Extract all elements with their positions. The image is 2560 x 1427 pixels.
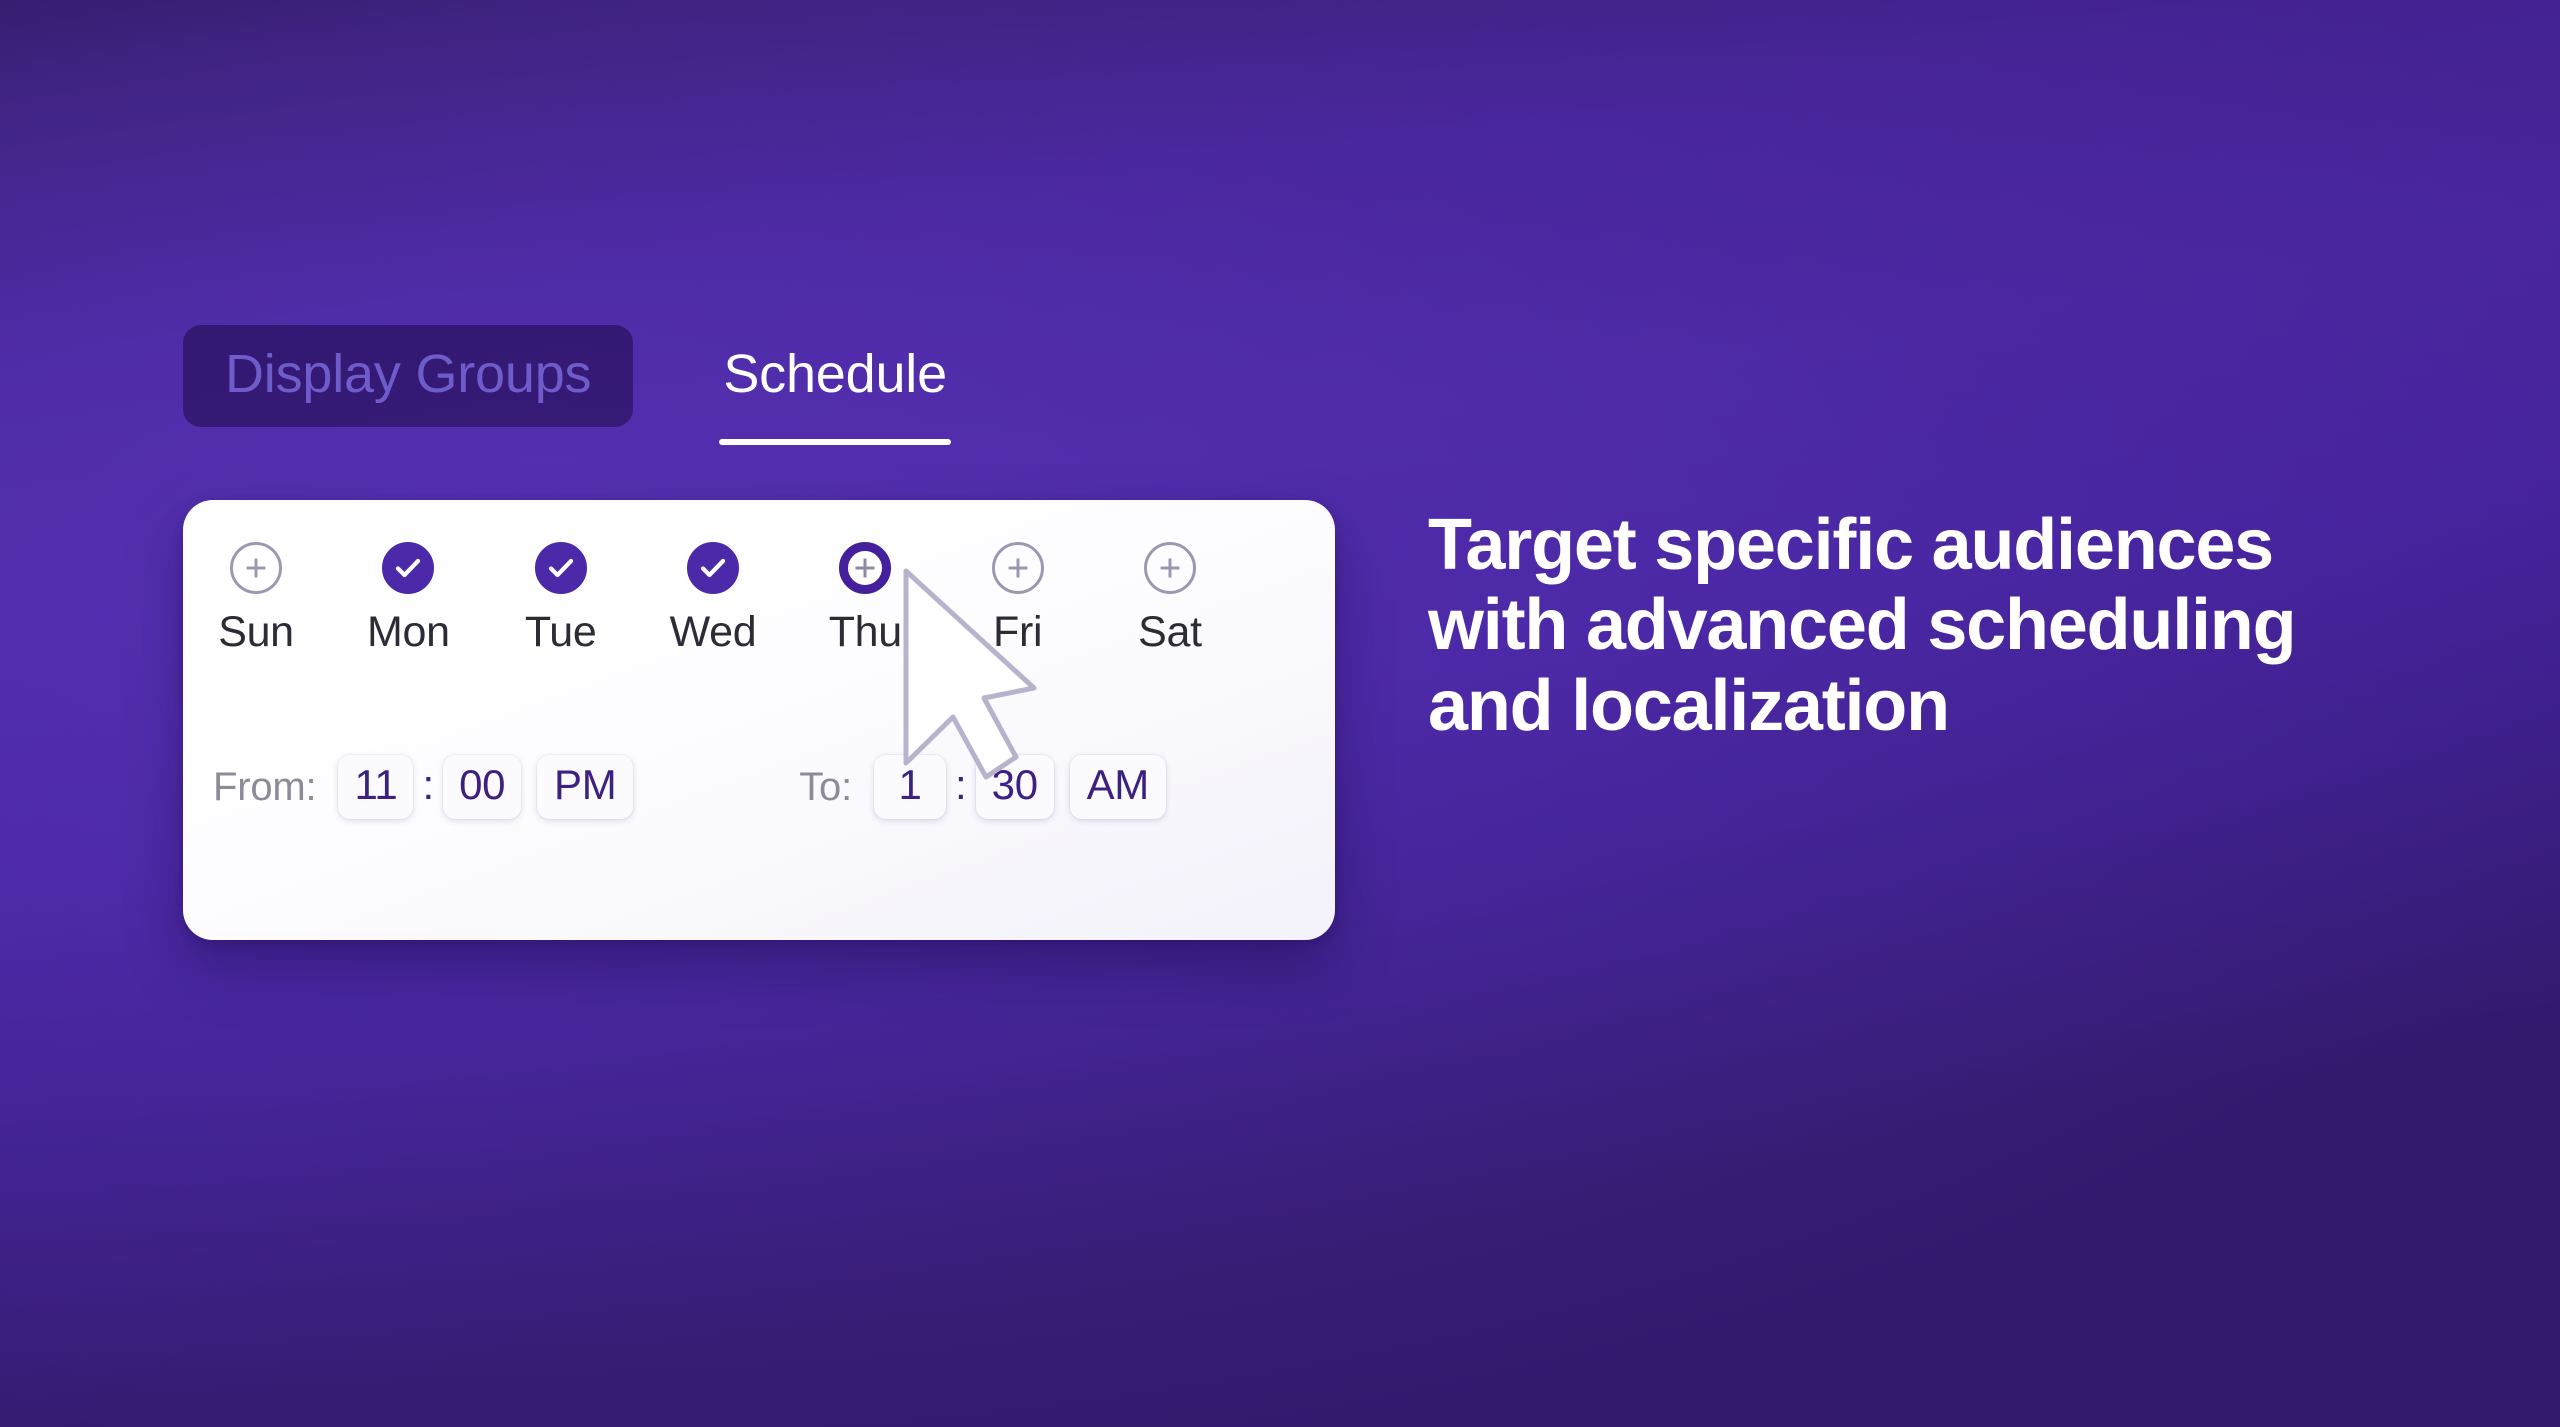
- to-minute-input[interactable]: 30: [976, 755, 1054, 819]
- to-label: To:: [799, 765, 852, 810]
- headline-line-3: and localization: [1428, 666, 2488, 746]
- to-hour-input[interactable]: 1: [874, 755, 946, 819]
- from-meridiem-select[interactable]: PM: [537, 755, 633, 819]
- headline-line-1: Target specific audiences: [1428, 505, 2488, 585]
- from-time-group: From: 11 : 00 PM: [213, 755, 633, 819]
- day-label: Sun: [218, 611, 294, 654]
- headline-line-2: with advanced scheduling: [1428, 585, 2488, 665]
- day-label: Sat: [1138, 611, 1202, 654]
- day-label: Wed: [670, 611, 757, 654]
- check-circle-icon[interactable]: [687, 542, 739, 594]
- plus-circle-icon[interactable]: [839, 542, 891, 594]
- day-toggle-tue[interactable]: Tue: [498, 542, 624, 654]
- tab-schedule-label[interactable]: Schedule: [717, 325, 953, 427]
- to-time-group: To: 1 : 30 AM: [799, 755, 1166, 819]
- day-label: Mon: [367, 611, 450, 654]
- day-toggle-mon[interactable]: Mon: [345, 542, 471, 654]
- time-range-row: From: 11 : 00 PM To: 1 : 30 AM: [213, 755, 1166, 819]
- day-label: Tue: [525, 611, 597, 654]
- day-toggle-sat[interactable]: Sat: [1107, 542, 1233, 654]
- check-circle-icon[interactable]: [382, 542, 434, 594]
- day-toggle-fri[interactable]: Fri: [955, 542, 1081, 654]
- from-label: From:: [213, 765, 316, 810]
- schedule-card: Sun Mon Tue: [183, 500, 1335, 940]
- plus-circle-icon[interactable]: [992, 542, 1044, 594]
- active-tab-underline: [719, 439, 951, 445]
- day-toggle-sun[interactable]: Sun: [193, 542, 319, 654]
- tab-display-groups[interactable]: Display Groups: [183, 325, 633, 427]
- day-toggle-thu[interactable]: Thu: [802, 542, 928, 654]
- day-label: Fri: [993, 611, 1042, 654]
- tab-schedule[interactable]: Schedule: [717, 325, 953, 427]
- tab-bar: Display Groups Schedule: [183, 325, 953, 427]
- headline: Target specific audiences with advanced …: [1428, 505, 2488, 746]
- from-hour-input[interactable]: 11: [338, 755, 413, 819]
- from-minute-input[interactable]: 00: [443, 755, 521, 819]
- day-label: Thu: [829, 611, 902, 654]
- from-time-separator: :: [413, 764, 443, 806]
- promo-slide: Display Groups Schedule Sun: [0, 0, 2560, 1427]
- to-time-separator: :: [946, 764, 976, 806]
- day-selector-row: Sun Mon Tue: [193, 542, 1233, 654]
- plus-circle-icon[interactable]: [1144, 542, 1196, 594]
- day-toggle-wed[interactable]: Wed: [650, 542, 776, 654]
- plus-circle-icon[interactable]: [230, 542, 282, 594]
- tab-display-groups-label[interactable]: Display Groups: [183, 325, 633, 427]
- check-circle-icon[interactable]: [535, 542, 587, 594]
- to-meridiem-select[interactable]: AM: [1070, 755, 1166, 819]
